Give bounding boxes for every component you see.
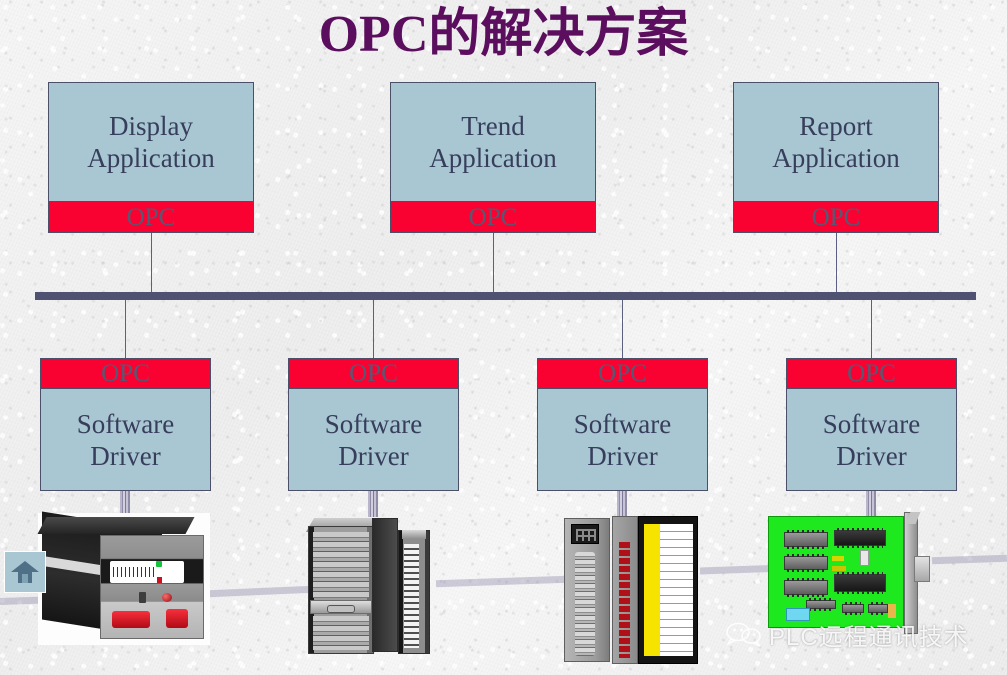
page-title: OPC的解决方案 (0, 2, 1007, 68)
driver-panel: Software Driver (538, 389, 707, 490)
server-side-panel (372, 518, 398, 652)
driver-box-1[interactable]: OPC Software Driver (40, 358, 211, 491)
driver-box-4[interactable]: OPC Software Driver (786, 358, 957, 491)
meter-display-right (166, 609, 188, 628)
application-panel: Trend Application (391, 83, 595, 201)
wire-bus-to-driver-2 (373, 300, 374, 358)
pcb-chip-dip-3 (784, 580, 828, 595)
meter-casing-top (37, 517, 194, 534)
driver-label-line2: Driver (587, 440, 657, 472)
pcb-bracket-port (914, 556, 930, 582)
wire-display-to-bus (151, 233, 152, 294)
wire-bus-to-driver-3 (622, 300, 623, 358)
pcb-chip-small-3 (868, 604, 888, 613)
server-door-latch (310, 600, 372, 614)
plc-connector-block (571, 524, 599, 544)
meter-green-marker (156, 561, 162, 567)
pcb-smd-amber (888, 604, 896, 618)
opc-band: OPC (734, 201, 938, 232)
wire-bus-to-driver-1 (125, 300, 126, 358)
driver-label-line2: Driver (836, 440, 906, 472)
wire-report-to-bus (836, 233, 837, 294)
pcb-chip-small-1 (806, 600, 836, 609)
opc-band: OPC (391, 201, 595, 232)
plc-status-leds (619, 542, 630, 658)
device-pcb-interface-card (768, 512, 932, 636)
meter-display-left (112, 611, 150, 628)
device-server-tower (300, 512, 442, 662)
opc-band: OPC (289, 359, 458, 389)
network-bus-bar (35, 292, 976, 300)
plc-yellow-label-strip (644, 524, 660, 656)
server-drive-bays-upper (313, 532, 369, 598)
meter-knob (139, 592, 146, 603)
pcb-chip-dark-1 (834, 530, 886, 546)
driver-label-line2: Driver (338, 440, 408, 472)
home-button[interactable] (4, 551, 46, 593)
meter-led-indicator (162, 593, 172, 602)
application-label-line1: Trend (461, 110, 525, 142)
driver-panel: Software Driver (41, 389, 210, 490)
server-rack-slots (404, 544, 419, 648)
device-panel-meter (38, 513, 210, 645)
opc-band: OPC (787, 359, 956, 389)
application-label-line1: Report (799, 110, 873, 142)
meter-scale (110, 561, 184, 583)
server-rack-top (402, 530, 426, 539)
application-label-line1: Display (109, 110, 193, 142)
pcb-smd-yellow-1 (832, 556, 844, 561)
driver-label-line1: Software (77, 408, 174, 440)
application-label-line2: Application (772, 142, 899, 174)
opc-band: OPC (49, 201, 253, 232)
driver-label-line1: Software (325, 408, 422, 440)
pcb-smd-white (860, 550, 869, 566)
device-plc-io-module (562, 512, 702, 664)
wire-trend-to-bus (493, 233, 494, 294)
application-panel: Report Application (734, 83, 938, 201)
pcb-chip-dip-1 (784, 532, 828, 547)
opc-band: OPC (41, 359, 210, 389)
plc-terminal-screws (575, 552, 595, 656)
driver-label-line2: Driver (90, 440, 160, 472)
pcb-chip-dip-2 (784, 556, 828, 570)
driver-panel: Software Driver (289, 389, 458, 490)
driver-box-3[interactable]: OPC Software Driver (537, 358, 708, 491)
driver-label-line1: Software (823, 408, 920, 440)
application-box-display[interactable]: Display Application OPC (48, 82, 254, 233)
driver-label-line1: Software (574, 408, 671, 440)
application-label-line2: Application (87, 142, 214, 174)
opc-band: OPC (538, 359, 707, 389)
meter-red-needle (157, 577, 162, 583)
pcb-smd-yellow-2 (832, 566, 846, 571)
server-drive-bays-lower (313, 616, 369, 650)
application-label-line2: Application (429, 142, 556, 174)
application-box-report[interactable]: Report Application OPC (733, 82, 939, 233)
pcb-chip-dark-2 (834, 574, 886, 592)
pcb-smd-blue (786, 608, 810, 621)
application-panel: Display Application (49, 83, 253, 201)
plc-white-label-strip (660, 524, 693, 656)
driver-panel: Software Driver (787, 389, 956, 490)
driver-box-2[interactable]: OPC Software Driver (288, 358, 459, 491)
wire-bus-to-driver-4 (871, 300, 872, 358)
application-box-trend[interactable]: Trend Application OPC (390, 82, 596, 233)
pcb-chip-small-2 (842, 604, 864, 613)
home-icon (10, 559, 40, 585)
